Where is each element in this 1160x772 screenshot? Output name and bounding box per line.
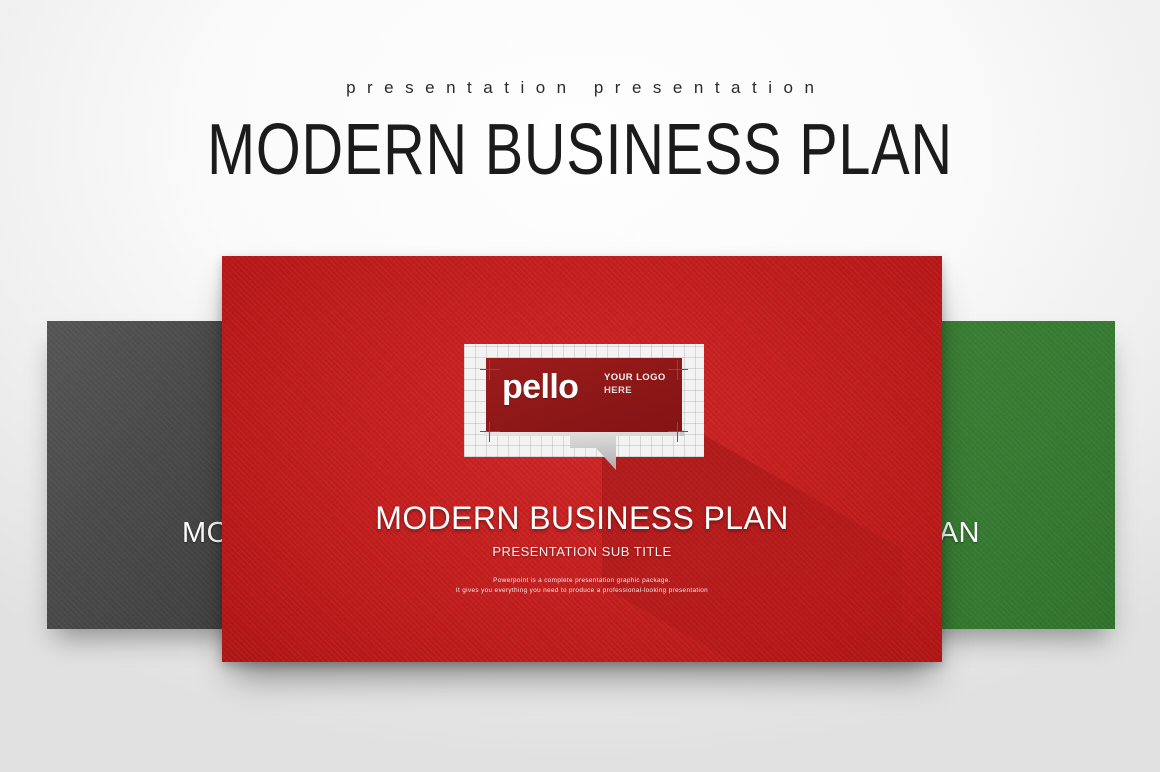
speech-bubble-tail-icon <box>484 430 684 474</box>
logo-speech-bubble: pello YOUR LOGO HERE <box>486 358 682 432</box>
slide-preview-red[interactable]: pello YOUR LOGO HERE MODERN BUSINESS PLA… <box>222 256 942 662</box>
logo-card: pello YOUR LOGO HERE <box>464 344 704 457</box>
slide-body-line-2: It gives you everything you need to prod… <box>222 586 942 596</box>
slide-body-text: Powerpoint is a complete presentation gr… <box>222 576 942 596</box>
slide-body-line-1: Powerpoint is a complete presentation gr… <box>222 576 942 586</box>
logo-tagline: YOUR LOGO HERE <box>604 372 666 397</box>
logo-wordmark: pello <box>502 370 578 404</box>
logo-tagline-line1: YOUR LOGO <box>604 372 666 385</box>
slide-subtitle: PRESENTATION SUB TITLE <box>222 544 942 560</box>
slide-stage: MOD LAN <box>0 0 1160 772</box>
logo-tagline-line2: HERE <box>604 385 666 398</box>
slide-title: MODERN BUSINESS PLAN <box>222 500 942 536</box>
